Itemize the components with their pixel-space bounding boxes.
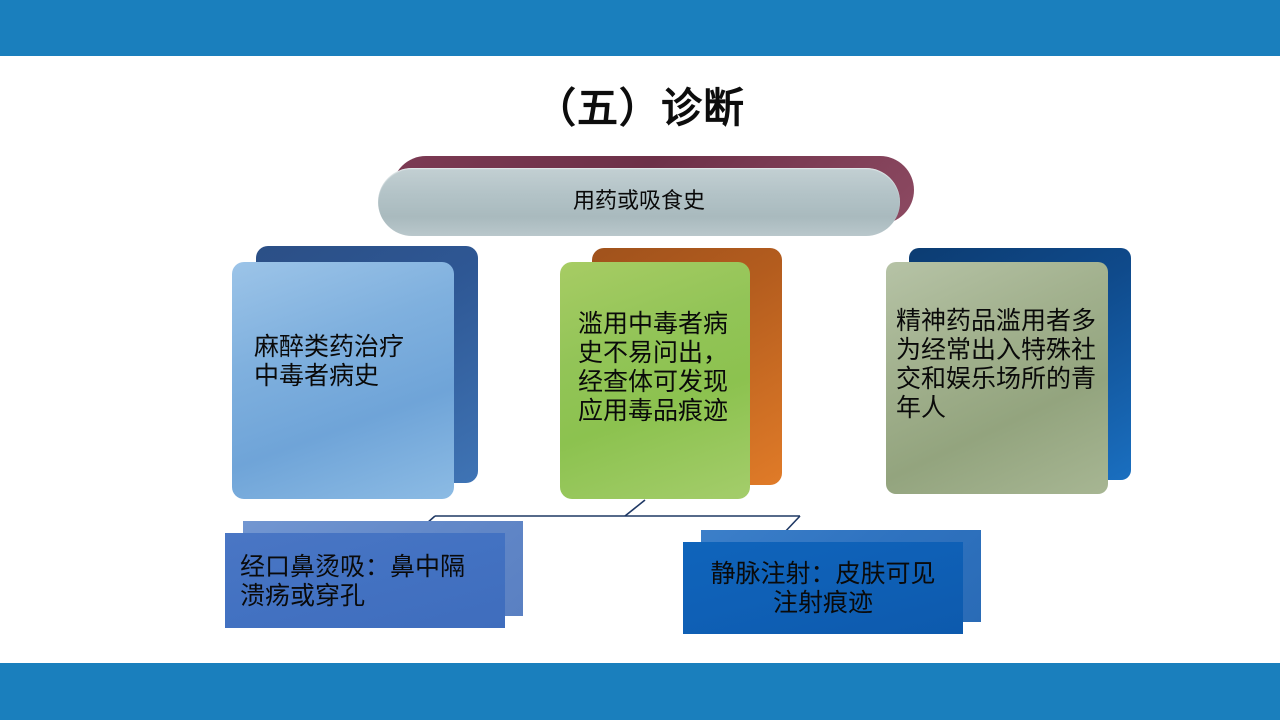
node-face: 用药或吸食史 (378, 168, 900, 236)
node-face: 滥用中毒者病 史不易问出， 经查体可发现 应用毒品痕迹 (560, 262, 750, 499)
node-opioid-history[interactable]: 麻醉类药治疗 中毒者病史 (232, 262, 454, 499)
connector-stem (625, 500, 645, 516)
bottom-accent-bar (0, 663, 1280, 720)
node-face: 经口鼻烫吸：鼻中隔 溃疡或穿孔 (225, 533, 505, 628)
node-abuse-history[interactable]: 滥用中毒者病 史不易问出， 经查体可发现 应用毒品痕迹 (560, 262, 750, 499)
node-intravenous-route[interactable]: 静脉注射：皮肤可见 注射痕迹 (683, 542, 963, 634)
node-label: 静脉注射：皮肤可见 注射痕迹 (683, 559, 963, 617)
node-label: 精神药品滥用者多 为经常出入特殊社 交和娱乐场所的青 年人 (886, 306, 1108, 422)
node-medication-history[interactable]: 用药或吸食史 (378, 168, 900, 236)
node-label: 麻醉类药治疗 中毒者病史 (232, 332, 454, 390)
top-accent-bar (0, 0, 1280, 56)
node-youth-profile[interactable]: 精神药品滥用者多 为经常出入特殊社 交和娱乐场所的青 年人 (886, 262, 1108, 494)
slide-canvas: （五）诊断 用药或吸食史 麻醉类药治疗 中毒者病史 滥用中毒者病 史不易问出， … (0, 0, 1280, 720)
node-nasal-route[interactable]: 经口鼻烫吸：鼻中隔 溃疡或穿孔 (225, 533, 505, 628)
node-label: 用药或吸食史 (378, 189, 900, 215)
node-label: 滥用中毒者病 史不易问出， 经查体可发现 应用毒品痕迹 (560, 309, 750, 425)
node-face: 麻醉类药治疗 中毒者病史 (232, 262, 454, 499)
node-face: 静脉注射：皮肤可见 注射痕迹 (683, 542, 963, 634)
page-title: （五）诊断 (0, 86, 1280, 131)
node-face: 精神药品滥用者多 为经常出入特殊社 交和娱乐场所的青 年人 (886, 262, 1108, 494)
node-label: 经口鼻烫吸：鼻中隔 溃疡或穿孔 (225, 552, 505, 610)
